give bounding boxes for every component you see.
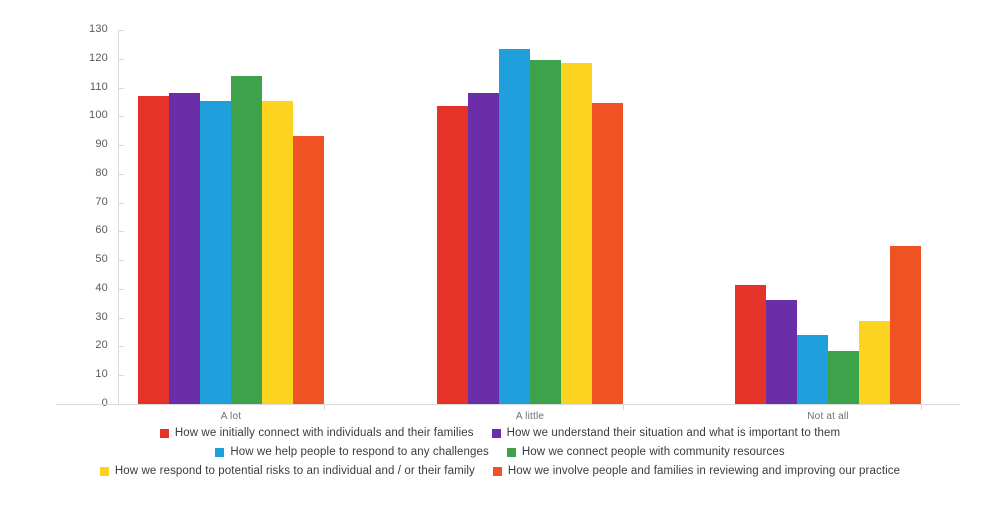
- y-axis-tick-label: 20: [62, 340, 108, 351]
- x-axis-category-label: A little: [437, 411, 623, 423]
- y-axis-tick-label: 30: [62, 312, 108, 323]
- bar-chart: 0102030405060708090100110120130 A lotA l…: [0, 0, 1000, 505]
- legend-row: How we initially connect with individual…: [0, 424, 1000, 443]
- legend-item[interactable]: How we connect people with community res…: [507, 446, 785, 459]
- bar-group: [437, 30, 623, 404]
- y-axis-tick: [118, 59, 124, 60]
- plot-area: A lotA littleNot at all: [118, 30, 960, 405]
- legend-label: How we initially connect with individual…: [175, 427, 474, 440]
- legend-color-swatch-icon: [492, 429, 501, 438]
- y-axis-tick: [118, 30, 124, 31]
- y-axis-tick: [118, 145, 124, 146]
- bar: [262, 101, 293, 405]
- bar: [169, 93, 200, 404]
- y-axis-line: [118, 30, 119, 405]
- y-axis-tick: [118, 404, 124, 405]
- bar: [735, 285, 766, 404]
- bar: [592, 103, 623, 404]
- x-axis-category-label: Not at all: [735, 411, 921, 423]
- legend-label: How we understand their situation and wh…: [507, 427, 841, 440]
- y-axis-tick-label: 50: [62, 254, 108, 265]
- legend-label: How we involve people and families in re…: [508, 465, 900, 478]
- bar: [468, 93, 499, 404]
- y-axis-tick: [118, 231, 124, 232]
- bar: [499, 49, 530, 404]
- bar: [293, 136, 324, 404]
- legend-item[interactable]: How we involve people and families in re…: [493, 465, 900, 478]
- x-axis-tick: [921, 405, 922, 410]
- legend-color-swatch-icon: [507, 448, 516, 457]
- x-axis-tick: [324, 405, 325, 410]
- y-axis-tick-label: 90: [62, 139, 108, 150]
- y-axis-tick: [118, 375, 124, 376]
- y-axis-tick: [118, 116, 124, 117]
- y-axis-tick-label: 110: [62, 82, 108, 93]
- legend-row: How we help people to respond to any cha…: [0, 443, 1000, 462]
- legend-item[interactable]: How we initially connect with individual…: [160, 427, 474, 440]
- y-axis-tick-label: 100: [62, 110, 108, 121]
- legend-color-swatch-icon: [215, 448, 224, 457]
- bar: [231, 76, 262, 404]
- y-axis-tick: [118, 88, 124, 89]
- bar-group: [138, 30, 324, 404]
- legend-color-swatch-icon: [160, 429, 169, 438]
- y-axis-tick: [118, 289, 124, 290]
- bar: [828, 351, 859, 404]
- legend-label: How we help people to respond to any cha…: [230, 446, 489, 459]
- y-axis-tick-label: 120: [62, 53, 108, 64]
- bar: [890, 246, 921, 404]
- bar: [766, 300, 797, 404]
- y-axis-tick: [118, 174, 124, 175]
- y-axis-tick-label: 70: [62, 197, 108, 208]
- legend-item[interactable]: How we understand their situation and wh…: [492, 427, 841, 440]
- y-axis-tick: [118, 318, 124, 319]
- legend-color-swatch-icon: [493, 467, 502, 476]
- y-axis-tick-label: 60: [62, 225, 108, 236]
- x-axis-tick: [623, 405, 624, 410]
- bar: [561, 63, 592, 404]
- x-axis-category-label: A lot: [138, 411, 324, 423]
- legend-label: How we connect people with community res…: [522, 446, 785, 459]
- x-axis-line: [56, 404, 960, 405]
- bar-group: [735, 30, 921, 404]
- legend-item[interactable]: How we respond to potential risks to an …: [100, 465, 475, 478]
- bar: [138, 96, 169, 404]
- y-axis-tick-label: 80: [62, 168, 108, 179]
- legend-row: How we respond to potential risks to an …: [0, 462, 1000, 481]
- y-axis-tick: [118, 260, 124, 261]
- y-axis-tick-label: 10: [62, 369, 108, 380]
- y-axis-labels: 0102030405060708090100110120130: [56, 30, 108, 405]
- legend-color-swatch-icon: [100, 467, 109, 476]
- legend-item[interactable]: How we help people to respond to any cha…: [215, 446, 489, 459]
- y-axis-tick: [118, 203, 124, 204]
- bar: [437, 106, 468, 404]
- y-axis-tick: [118, 346, 124, 347]
- bar: [530, 60, 561, 404]
- y-axis-tick-label: 130: [62, 24, 108, 35]
- bar: [859, 321, 890, 404]
- bar: [200, 101, 231, 405]
- legend-label: How we respond to potential risks to an …: [115, 465, 475, 478]
- bar: [797, 335, 828, 404]
- legend: How we initially connect with individual…: [0, 424, 1000, 481]
- y-axis-tick-label: 40: [62, 283, 108, 294]
